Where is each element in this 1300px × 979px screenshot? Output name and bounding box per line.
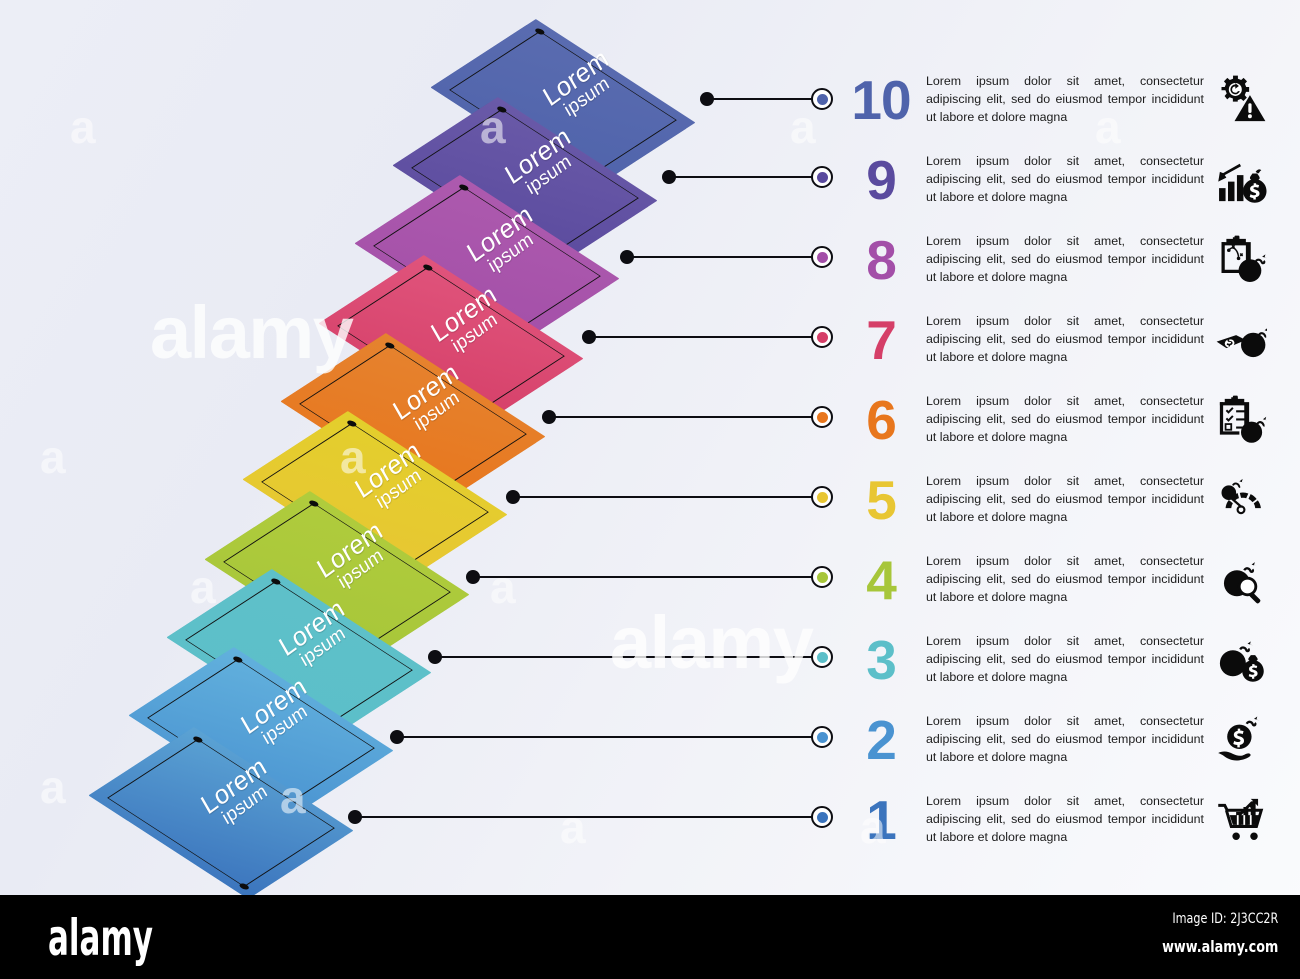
step-row[interactable]: 8Lorem ipsum dolor sit amet, consectetur… xyxy=(850,218,1270,302)
footer-meta: Image ID: 2J3CC2R www.alamy.com xyxy=(1133,911,1278,956)
step-row[interactable]: 6Lorem ipsum dolor sit amet, consectetur… xyxy=(850,378,1270,462)
step-description: Lorem ipsum dolor sit amet, consectetur … xyxy=(912,713,1212,766)
gear-warning-icon xyxy=(1212,71,1270,129)
step-row[interactable]: 7Lorem ipsum dolor sit amet, consectetur… xyxy=(850,298,1270,382)
step-row[interactable]: 3Lorem ipsum dolor sit amet, consectetur… xyxy=(850,618,1270,702)
step-description: Lorem ipsum dolor sit amet, consectetur … xyxy=(912,553,1212,606)
infographic-canvas: alamyalamyaaaaaaaaaaaa LoremipsumLoremip… xyxy=(0,0,1300,979)
step-number: 1 xyxy=(850,793,912,848)
step-number: 3 xyxy=(850,633,912,688)
step-number: 7 xyxy=(850,313,912,368)
step-description: Lorem ipsum dolor sit amet, consectetur … xyxy=(912,393,1212,446)
step-description: Lorem ipsum dolor sit amet, consectetur … xyxy=(912,153,1212,206)
step-number: 5 xyxy=(850,473,912,528)
step-description: Lorem ipsum dolor sit amet, consectetur … xyxy=(912,73,1212,126)
step-number: 4 xyxy=(850,553,912,608)
step-description: Lorem ipsum dolor sit amet, consectetur … xyxy=(912,233,1212,286)
step-row[interactable]: 10Lorem ipsum dolor sit amet, consectetu… xyxy=(850,58,1270,142)
step-number: 10 xyxy=(850,73,912,128)
checklist-bomb-icon xyxy=(1212,391,1270,449)
bomb-moneybag-icon xyxy=(1212,631,1270,689)
chart-down-moneybag-icon xyxy=(1212,151,1270,209)
bomb-magnifier-icon xyxy=(1212,551,1270,609)
money-bomb-hand-icon xyxy=(1212,711,1270,769)
image-id-label: Image ID: 2J3CC2R xyxy=(1162,911,1278,927)
alamy-url[interactable]: www.alamy.com xyxy=(1162,937,1278,956)
step-row[interactable]: 9Lorem ipsum dolor sit amet, consectetur… xyxy=(850,138,1270,222)
step-row[interactable]: 2Lorem ipsum dolor sit amet, consectetur… xyxy=(850,698,1270,782)
step-row[interactable]: 1Lorem ipsum dolor sit amet, consectetur… xyxy=(850,778,1270,862)
step-row[interactable]: 5Lorem ipsum dolor sit amet, consectetur… xyxy=(850,458,1270,542)
step-row[interactable]: 4Lorem ipsum dolor sit amet, consectetur… xyxy=(850,538,1270,622)
step-description-list: 10Lorem ipsum dolor sit amet, consectetu… xyxy=(0,0,1300,979)
step-description: Lorem ipsum dolor sit amet, consectetur … xyxy=(912,313,1212,366)
risk-gauge-bomb-icon xyxy=(1212,471,1270,529)
stock-footer-bar: alamy Image ID: 2J3CC2R www.alamy.com xyxy=(0,895,1300,979)
step-number: 2 xyxy=(850,713,912,768)
strategy-bomb-icon xyxy=(1212,231,1270,289)
alamy-logo: alamy xyxy=(48,909,153,967)
money-bomb-icon xyxy=(1212,311,1270,369)
step-description: Lorem ipsum dolor sit amet, consectetur … xyxy=(912,793,1212,846)
step-description: Lorem ipsum dolor sit amet, consectetur … xyxy=(912,633,1212,686)
step-number: 6 xyxy=(850,393,912,448)
step-number: 8 xyxy=(850,233,912,288)
step-description: Lorem ipsum dolor sit amet, consectetur … xyxy=(912,473,1212,526)
step-number: 9 xyxy=(850,153,912,208)
cart-growth-icon xyxy=(1212,791,1270,849)
